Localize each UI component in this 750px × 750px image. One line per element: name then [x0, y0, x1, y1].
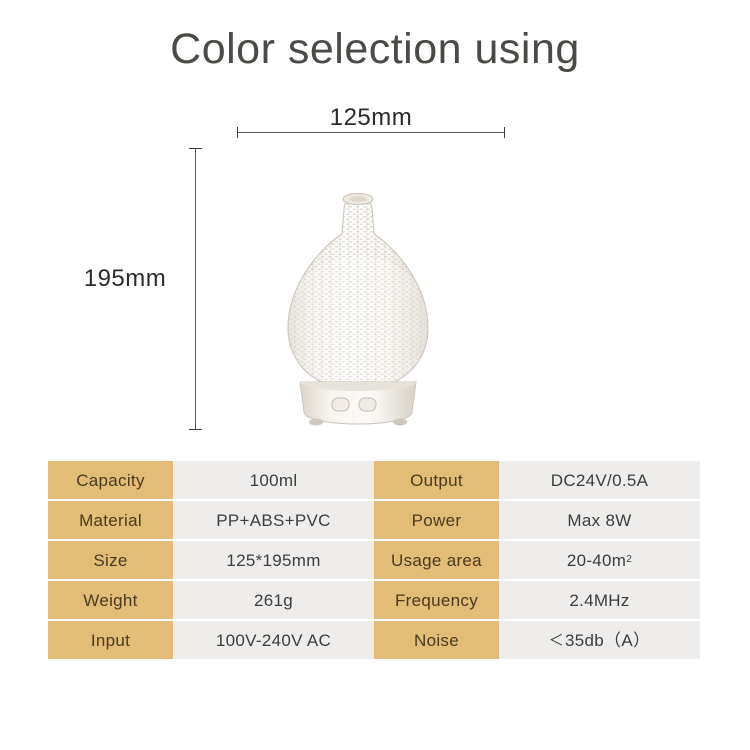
specification-table: Capacity 100ml Output DC24V/0.5A Materia… [48, 461, 700, 659]
table-cell-label: Usage area [374, 541, 499, 579]
table-cell-label: Output [374, 461, 499, 499]
table-cell-value: 125*195mm [173, 541, 374, 579]
table-cell-value: 2.4MHz [499, 581, 700, 619]
table-cell-label: Power [374, 501, 499, 539]
table-cell-value: PP+ABS+PVC [173, 501, 374, 539]
table-cell-value: 100V-240V AC [173, 621, 374, 659]
table-cell-value: Max 8W [499, 501, 700, 539]
table-cell-value: 20-40m2 [499, 541, 700, 579]
table-cell-value: 100ml [173, 461, 374, 499]
table-cell-label: Capacity [48, 461, 173, 499]
table-cell-value: ＜35db（A） [499, 621, 700, 659]
height-dimension-label: 195mm [70, 265, 180, 293]
less-than-symbol: ＜ [549, 633, 564, 648]
height-dimension-line [195, 148, 196, 430]
diffuser-button-1 [332, 398, 349, 411]
table-cell-value: DC24V/0.5A [499, 461, 700, 499]
table-cell-label: Frequency [374, 581, 499, 619]
product-figure-area: 125mm 195mm [0, 0, 750, 455]
diffuser-neck-rim [343, 194, 373, 205]
width-dimension-label: 125mm [237, 104, 505, 132]
width-dimension-line [237, 132, 505, 133]
table-cell-value-text: 35db（A） [565, 632, 650, 649]
table-cell-value: 261g [173, 581, 374, 619]
table-cell-label: Size [48, 541, 173, 579]
table-cell-label: Weight [48, 581, 173, 619]
table-cell-label: Input [48, 621, 173, 659]
diffuser-button-2 [359, 398, 376, 411]
table-cell-value-text: 20-40m [567, 552, 626, 569]
table-cell-label: Material [48, 501, 173, 539]
table-cell-label: Noise [374, 621, 499, 659]
product-photo-diffuser [258, 176, 458, 430]
